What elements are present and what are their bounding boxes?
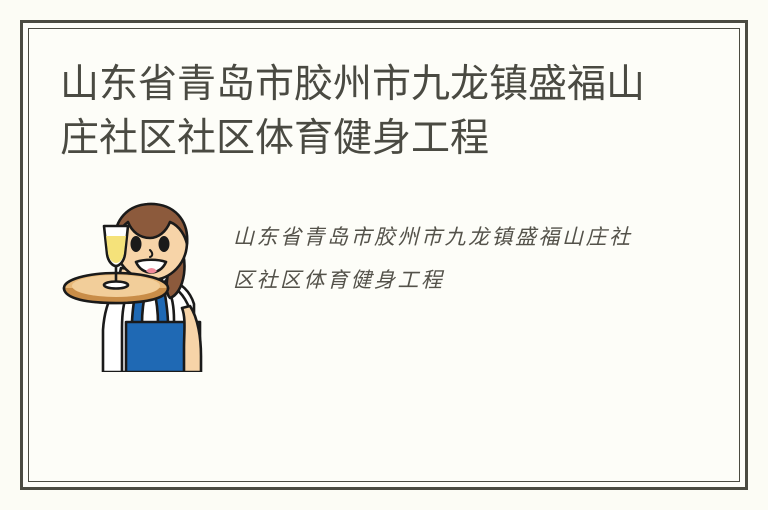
eye-left: [131, 236, 142, 252]
page-title: 山东省青岛市胶州市九龙镇盛福山庄社区社区体育健身工程: [60, 58, 660, 166]
body-paragraph: 山东省青岛市胶州市九龙镇盛福山庄社区社区体育健身工程: [233, 216, 653, 302]
eye-right: [159, 236, 170, 252]
poster-content: 山东省青岛市胶州市九龙镇盛福山庄社区社区体育健身工程: [0, 0, 768, 510]
waitress-with-tray-illustration: [58, 196, 213, 372]
wine-glass-foot: [104, 282, 128, 289]
right-arm: [182, 306, 201, 372]
poster-page: 山东省青岛市胶州市九龙镇盛福山庄社区社区体育健身工程: [0, 0, 768, 510]
